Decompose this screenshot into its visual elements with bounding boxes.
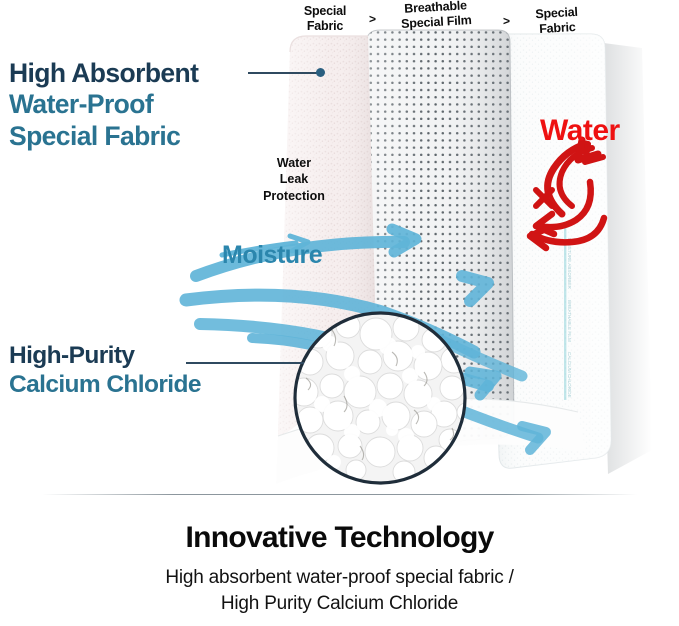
- leak-line: Water: [277, 156, 311, 170]
- footer-subtitle: High absorbent water-proof special fabri…: [0, 565, 679, 616]
- layer-caption-special-fabric-back: SpecialFabric: [519, 4, 595, 38]
- callout-calcium-line2: Calcium Chloride: [9, 370, 201, 399]
- layer-caption-special-fabric-front: SpecialFabric: [286, 4, 364, 34]
- caption-line: Fabric: [307, 19, 343, 33]
- caption-separator-1: >: [369, 12, 376, 26]
- label-water: Water: [540, 114, 620, 148]
- svg-text:CALCIUM CHLORIDE: CALCIUM CHLORIDE: [567, 352, 572, 398]
- callout-fabric-connector-line: [248, 72, 320, 74]
- caption-line: Special: [304, 4, 346, 18]
- infographic-canvas: MOISTURE ABSORBER BREATHABLE FILM CALCIU…: [0, 0, 679, 626]
- callout-calcium-line1: High-Purity: [9, 341, 201, 370]
- footer-subtitle-line2: High Purity Calcium Chloride: [221, 593, 458, 614]
- callout-calcium: High-Purity Calcium Chloride: [9, 341, 201, 400]
- footer-subtitle-line1: High absorbent water-proof special fabri…: [165, 567, 513, 588]
- callout-fabric-line3: Special Fabric: [9, 121, 198, 152]
- callout-fabric: High Absorbent Water-Proof Special Fabri…: [9, 58, 198, 152]
- caption-line: Special Film: [401, 13, 472, 31]
- svg-text:BREATHABLE FILM: BREATHABLE FILM: [567, 300, 572, 342]
- label-moisture: Moisture: [222, 241, 322, 270]
- leak-line: Leak: [280, 172, 309, 186]
- callout-fabric-connector-dot: [316, 68, 325, 77]
- callout-fabric-line2: Water-Proof: [9, 89, 198, 120]
- label-water-leak-protection: WaterLeakProtection: [248, 155, 340, 204]
- callout-calcium-connector-line: [186, 362, 304, 364]
- leak-line: Protection: [263, 189, 325, 203]
- footer-divider: [42, 494, 637, 495]
- caption-line: Special: [535, 5, 578, 21]
- footer-title: Innovative Technology: [0, 521, 679, 555]
- caption-separator-2: >: [503, 14, 510, 28]
- svg-text:MOISTURE ABSORBER: MOISTURE ABSORBER: [567, 238, 572, 289]
- callout-fabric-line1: High Absorbent: [9, 58, 198, 89]
- caption-line: Fabric: [539, 20, 576, 36]
